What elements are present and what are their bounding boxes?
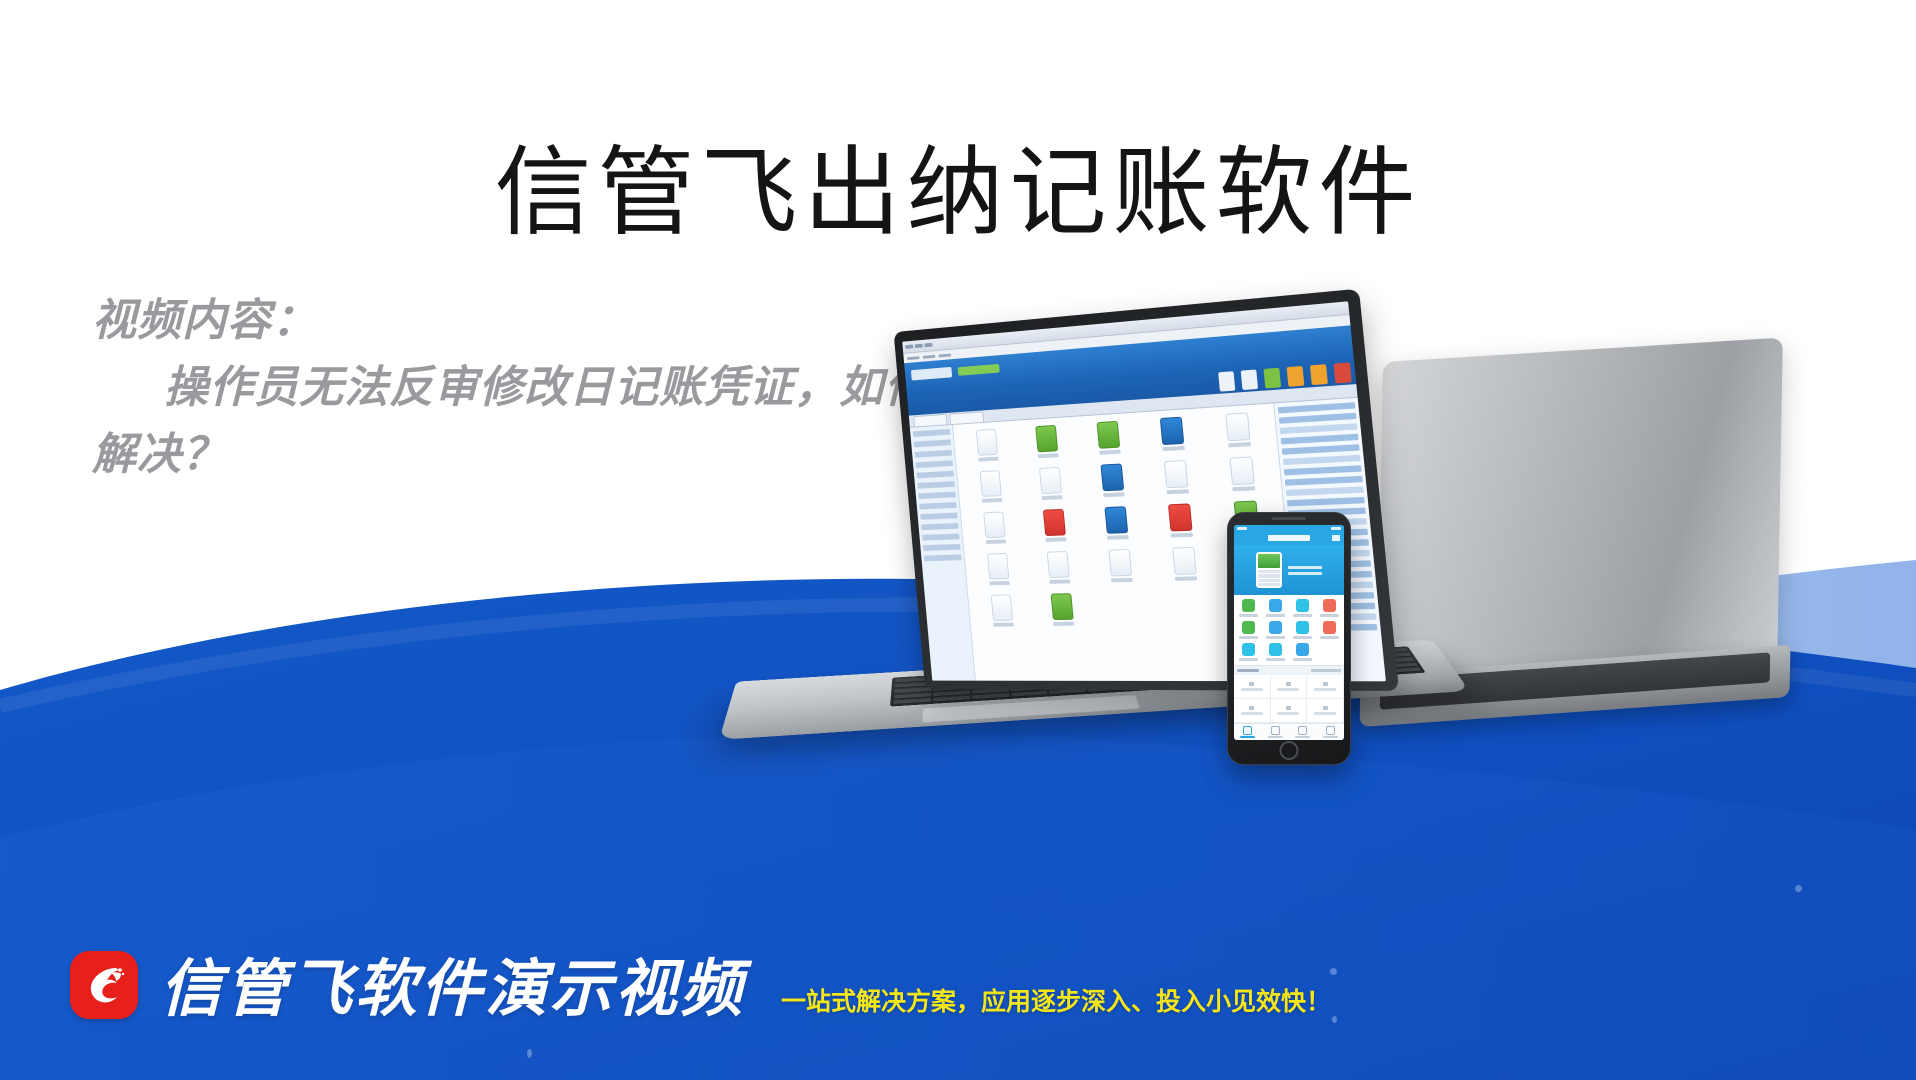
app-grid-item: [1028, 550, 1090, 591]
phone-stats-grid: [1234, 675, 1344, 723]
app-logo-icon: [911, 367, 952, 381]
decorative-dot: [1330, 968, 1337, 975]
phone-grid-item: [1290, 643, 1315, 661]
phone-grid-item: [1236, 599, 1261, 617]
app-grid-item: [1077, 420, 1140, 463]
phone-home-button: [1280, 741, 1299, 760]
phone-grid-item: [1236, 621, 1261, 639]
phone-banner: [1234, 545, 1344, 595]
app-grid-item: [1081, 462, 1145, 505]
phone-grid-item-empty: [1317, 643, 1342, 661]
footer-brand-bar: 信管飞软件演示视频 一站式解决方案，应用逐步深入、投入小见效快！: [70, 951, 1331, 1025]
phone-app-header: [1234, 531, 1344, 545]
phone-banner-text: [1288, 566, 1322, 575]
toolbar-icon-2: [1241, 369, 1258, 390]
phone-screen: [1234, 525, 1344, 740]
app-grid-item: [1144, 459, 1210, 502]
app-grid-item: [1032, 593, 1094, 633]
phone-stat-cell: [1307, 675, 1344, 699]
phone-tab-stats: [1289, 724, 1317, 740]
toolbar-icon-4: [1287, 366, 1305, 387]
xinguanfei-bird-logo-icon: [70, 951, 138, 1019]
phone-earpiece: [1272, 517, 1306, 520]
slide-canvas: 信管飞出纳记账软件 视频内容： 操作员无法反审修改日记账凭证，如何 解决？: [0, 0, 1916, 1080]
app-grid-item: [1205, 411, 1273, 456]
app-grid-item: [1024, 508, 1086, 549]
toolbar-icon-1: [1218, 371, 1235, 391]
app-grid-item: [973, 594, 1033, 634]
phone-stat-cell: [1234, 675, 1271, 699]
devices-illustration: [860, 370, 1916, 930]
page-title: 信管飞出纳记账软件: [0, 137, 1916, 249]
phone-grid-item: [1317, 599, 1342, 617]
phone-section-header: [1234, 665, 1344, 675]
phone-banner-device-image: [1256, 552, 1282, 588]
phone-grid-item: [1290, 621, 1315, 639]
phone-grid-item: [1290, 599, 1315, 617]
phone-tab-home: [1234, 724, 1262, 740]
toolbar-icon-5: [1310, 364, 1328, 385]
app-grid-item: [969, 552, 1029, 592]
decorative-dot: [1795, 885, 1802, 892]
smartphone: [1227, 512, 1351, 765]
app-grid-item: [1152, 546, 1218, 588]
app-grid-item: [1089, 548, 1153, 589]
app-title-text: [958, 364, 1000, 376]
app-grid-item: [1148, 503, 1214, 546]
footer-brand-name: 信管飞软件演示视频: [160, 959, 745, 1021]
phone-tab-profile: [1317, 724, 1345, 740]
phone-tab-reports: [1262, 724, 1290, 740]
phone-icon-grid: [1234, 595, 1344, 665]
phone-grid-item: [1263, 621, 1288, 639]
hamburger-menu-icon: [1332, 535, 1340, 541]
phone-stat-cell: [1307, 699, 1344, 723]
phone-app-title: [1268, 535, 1310, 541]
app-grid-item: [1209, 455, 1277, 499]
footer-tagline: 一站式解决方案，应用逐步深入、投入小见效快！: [781, 990, 1331, 1015]
toolbar-icon-3: [1263, 368, 1281, 389]
app-grid-item: [1085, 505, 1149, 547]
app-grid-item: [958, 428, 1018, 470]
phone-grid-item: [1263, 643, 1288, 661]
phone-grid-item: [1263, 599, 1288, 617]
decorative-dot: [527, 1049, 532, 1058]
phone-grid-item: [1236, 643, 1261, 661]
toolbar-icon-6: [1333, 362, 1351, 383]
phone-stat-cell: [1271, 675, 1308, 699]
phone-stat-cell: [1271, 699, 1308, 723]
app-grid-item: [962, 469, 1022, 510]
app-grid-item: [965, 511, 1025, 552]
decorative-dot: [1332, 1016, 1337, 1023]
phone-stat-cell: [1234, 699, 1271, 723]
phone-tab-bar: [1234, 723, 1344, 740]
app-grid-item: [1021, 466, 1083, 508]
front-laptop: [860, 370, 1480, 930]
app-grid-item: [1017, 424, 1078, 466]
phone-grid-item: [1317, 621, 1342, 639]
app-grid-item: [1140, 415, 1206, 459]
